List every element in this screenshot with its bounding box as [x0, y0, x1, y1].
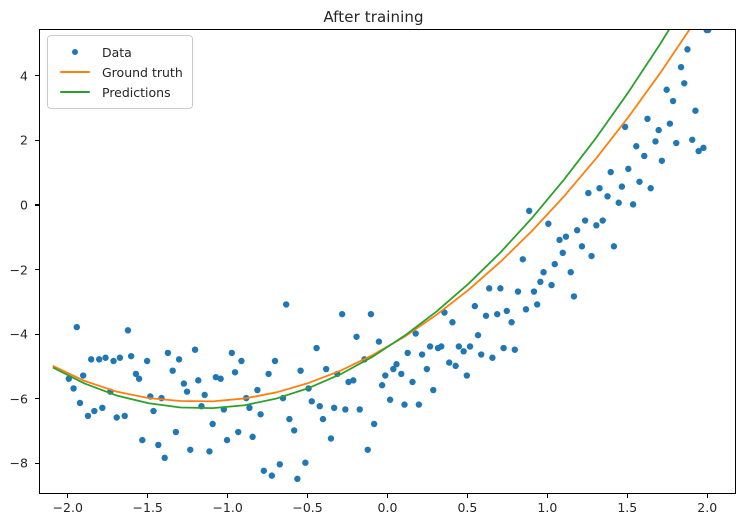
x-tick-label: −1.0	[212, 500, 242, 515]
chart-title: After training	[0, 8, 747, 26]
y-tick-label: −2	[10, 262, 28, 277]
y-tick-mark	[35, 334, 39, 335]
y-tick-label: 4	[20, 68, 28, 83]
x-tick-label: 0.0	[378, 500, 398, 515]
y-tick-mark	[35, 140, 39, 141]
x-tick-mark	[227, 494, 228, 498]
x-tick-mark	[467, 494, 468, 498]
legend-label-data: Data	[102, 45, 132, 60]
x-tick-label: 1.0	[537, 500, 557, 515]
x-tick-mark	[387, 494, 388, 498]
y-tick-mark	[35, 75, 39, 76]
x-tick-label: 0.5	[457, 500, 477, 515]
x-tick-mark	[627, 494, 628, 498]
y-tick-mark	[35, 204, 39, 205]
x-tick-label: 1.5	[617, 500, 637, 515]
y-tick-label: −6	[10, 391, 28, 406]
x-tick-label: −2.0	[53, 500, 83, 515]
legend-item-predictions: Predictions	[56, 82, 183, 102]
y-tick-label: 0	[20, 197, 28, 212]
x-tick-mark	[67, 494, 68, 498]
y-tick-label: 2	[20, 133, 28, 148]
figure-canvas: After training −2.0−1.5−1.0−0.50.00.51.0…	[0, 0, 747, 528]
x-tick-mark	[547, 494, 548, 498]
legend-label-predictions: Predictions	[102, 85, 171, 100]
legend-item-ground-truth: Ground truth	[56, 62, 183, 82]
legend-item-data: Data	[56, 42, 183, 62]
legend-line-icon	[56, 91, 94, 94]
x-tick-label: −1.5	[133, 500, 163, 515]
y-tick-mark	[35, 463, 39, 464]
legend-marker-icon	[56, 49, 94, 55]
chart-legend: Data Ground truth Predictions	[47, 35, 193, 109]
y-tick-mark	[35, 398, 39, 399]
x-tick-mark	[147, 494, 148, 498]
x-tick-mark	[307, 494, 308, 498]
legend-line-icon	[56, 71, 94, 74]
legend-label-ground-truth: Ground truth	[102, 65, 183, 80]
y-tick-mark	[35, 269, 39, 270]
x-tick-label: 2.0	[697, 500, 717, 515]
y-tick-label: −8	[10, 456, 28, 471]
x-tick-mark	[707, 494, 708, 498]
y-tick-label: −4	[10, 327, 28, 342]
x-tick-label: −0.5	[292, 500, 322, 515]
